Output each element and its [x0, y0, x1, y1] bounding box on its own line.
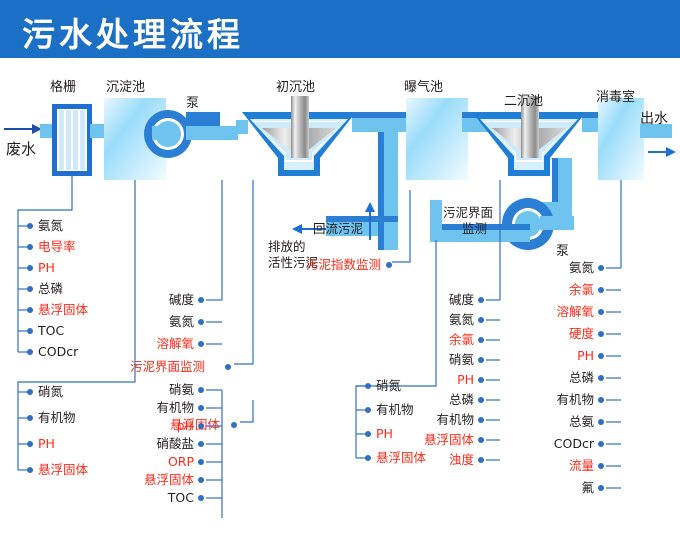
param-label: 流量	[530, 459, 594, 473]
bullet-dot	[198, 459, 204, 465]
param-label: 溶解氧	[530, 305, 594, 319]
bullet-dot	[198, 441, 204, 447]
param-label: 总磷	[408, 393, 474, 407]
bullet-dot	[27, 415, 33, 421]
param-label: PH	[38, 261, 55, 275]
bullet-dot	[198, 477, 204, 483]
bullet-dot	[478, 297, 484, 303]
param-label: 氨氮	[530, 261, 594, 275]
bullet-dot	[598, 353, 604, 359]
bullet-dot	[27, 441, 33, 447]
bullet-dot	[598, 419, 604, 425]
param-label: 碱度	[408, 293, 474, 307]
param-label: 悬浮固体	[408, 433, 474, 447]
param-label: 碱度	[134, 293, 194, 307]
bullet-dot	[198, 405, 204, 411]
bullet-dot	[27, 349, 33, 355]
bullet-dot	[198, 319, 204, 325]
bullet-dot	[598, 463, 604, 469]
bullet-dot	[198, 495, 204, 501]
diagram-root: 污水处理流程	[0, 0, 680, 535]
param-label: 硝氨	[408, 353, 474, 367]
bullet-dot	[478, 357, 484, 363]
bullet-dot	[27, 389, 33, 395]
bullet-dot	[478, 377, 484, 383]
bullet-dot	[365, 383, 371, 389]
bullet-dot	[365, 407, 371, 413]
param-label: 余氯	[408, 333, 474, 347]
param-label: 浊度	[408, 453, 474, 467]
param-label: CODcr	[38, 345, 78, 359]
param-label: PH	[38, 437, 55, 451]
param-label: pH	[126, 419, 194, 433]
param-label: 有机物	[38, 411, 76, 425]
param-label: 有机物	[126, 401, 194, 415]
bullet-dot	[365, 431, 371, 437]
bullet-dot	[598, 309, 604, 315]
bullet-dot	[598, 287, 604, 293]
bullet-dot	[478, 437, 484, 443]
param-label: PH	[376, 427, 393, 441]
bullet-dot	[198, 297, 204, 303]
param-label: 总磷	[38, 282, 63, 296]
bullet-dot	[198, 341, 204, 347]
param-label: 总氨	[530, 415, 594, 429]
bullet-dot	[365, 455, 371, 461]
param-label: 硝酸盐	[126, 437, 194, 451]
param-label: TOC	[126, 491, 194, 505]
bullet-dot	[27, 265, 33, 271]
param-label: 硝氮	[376, 379, 401, 393]
param-label: 电导率	[38, 240, 76, 254]
param-label: 氟	[530, 481, 594, 495]
param-label: 有机物	[530, 393, 594, 407]
bullet-dot	[598, 265, 604, 271]
bullet-dot	[478, 397, 484, 403]
bullet-dot	[27, 467, 33, 473]
bullet-dot	[27, 328, 33, 334]
param-label: PH	[408, 373, 474, 387]
bullet-dot	[598, 397, 604, 403]
param-label: 悬浮固体	[38, 463, 88, 477]
param-label: 硝氨	[126, 383, 194, 397]
param-label: CODcr	[530, 437, 594, 451]
param-label: 有机物	[408, 413, 474, 427]
param-label: 总磷	[530, 371, 594, 385]
param-label: 余氯	[530, 283, 594, 297]
bullet-dot	[27, 244, 33, 250]
bullet-dot	[27, 223, 33, 229]
bullet-dot	[598, 375, 604, 381]
bullet-dot	[198, 387, 204, 393]
param-label: 氨氮	[38, 219, 63, 233]
bullet-dot	[598, 331, 604, 337]
param-label: 硝氮	[38, 385, 63, 399]
param-label: 硬度	[530, 327, 594, 341]
param-label: 氨氮	[408, 313, 474, 327]
bullet-dot	[598, 441, 604, 447]
param-label: 溶解氧	[134, 337, 194, 351]
bullet-dot	[478, 457, 484, 463]
param-label: PH	[530, 349, 594, 363]
param-label: 悬浮固体	[126, 473, 194, 487]
bullet-dot	[198, 423, 204, 429]
bullet-dot	[478, 417, 484, 423]
bullet-dot	[478, 317, 484, 323]
param-label: ORP	[126, 455, 194, 469]
param-label: TOC	[38, 324, 64, 338]
bullet-dot	[478, 337, 484, 343]
param-label: 悬浮固体	[38, 303, 88, 317]
param-label: 氨氮	[134, 315, 194, 329]
bullet-dot	[27, 307, 33, 313]
bullet-dot	[27, 286, 33, 292]
bullet-dot	[598, 485, 604, 491]
